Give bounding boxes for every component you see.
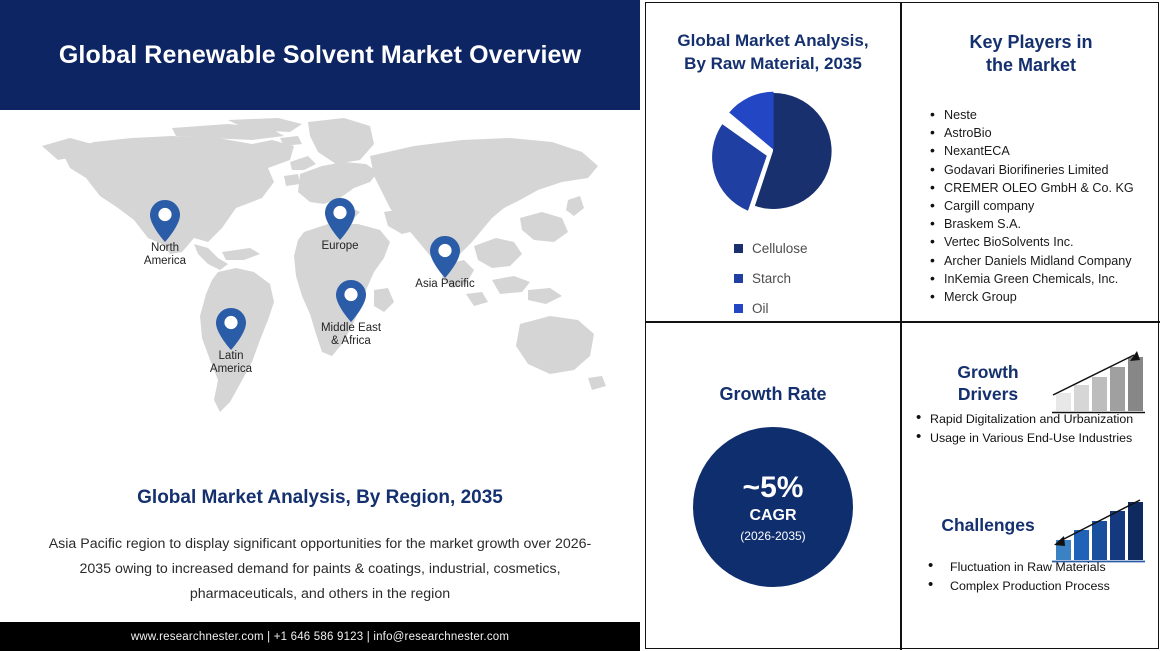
location-pin-icon [428, 234, 462, 280]
world-map-svg [22, 112, 622, 442]
list-item: Godavari Biorifineries Limited [930, 162, 1156, 179]
growth-drivers-title-line2: Drivers [928, 383, 1048, 405]
list-item: Complex Production Process [926, 577, 1154, 596]
legend-item-cellulose: Cellulose [734, 241, 900, 256]
drivers-challenges-panel: Growth Drivers Rapid Digitalization and … [902, 323, 1160, 650]
legend-swatch-oil [734, 304, 743, 313]
growth-drivers-list: Rapid Digitalization and Urbanization Us… [902, 411, 1160, 446]
list-item: Vertec BioSolvents Inc. [930, 234, 1156, 251]
challenges-list: Fluctuation in Raw Materials Complex Pro… [902, 558, 1160, 596]
growth-rate-title: Growth Rate [646, 383, 900, 406]
list-item: InKemia Green Chemicals, Inc. [930, 271, 1156, 288]
region-analysis-description: Asia Pacific region to display significa… [40, 532, 600, 607]
raw-material-pie-chart [646, 89, 900, 219]
growth-rate-period: (2026-2035) [740, 529, 805, 543]
world-map-section: NorthAmerica Europe Asia Pacific [0, 112, 640, 472]
map-pin-label: LatinAmerica [210, 350, 252, 375]
page-title: Global Renewable Solvent Market Overview [59, 41, 581, 70]
list-item: NexantECA [930, 143, 1156, 160]
right-panel-grid: Global Market Analysis, By Raw Material,… [645, 2, 1159, 649]
location-pin-icon [334, 278, 368, 324]
map-pin-middle-east-africa[interactable]: Middle East& Africa [334, 278, 368, 324]
left-panel: Global Renewable Solvent Market Overview [0, 0, 640, 651]
list-item: Braskem S.A. [930, 216, 1156, 233]
legend-swatch-cellulose [734, 244, 743, 253]
key-players-panel: Key Players in the Market Neste AstroBio… [902, 3, 1160, 321]
map-pin-label: Middle East& Africa [321, 322, 381, 347]
list-item: Rapid Digitalization and Urbanization [914, 411, 1154, 428]
legend-swatch-starch [734, 274, 743, 283]
map-pin-label: NorthAmerica [144, 242, 186, 267]
growth-drivers-bar-chart-icon [1050, 347, 1146, 417]
footer-bar: www.researchnester.com | +1 646 586 9123… [0, 622, 640, 651]
raw-material-title-line2: By Raw Material, 2035 [646, 52, 900, 75]
key-players-title-line2: the Market [902, 54, 1160, 77]
challenges-bar-chart-icon [1050, 494, 1146, 566]
legend-item-oil: Oil [734, 301, 900, 316]
map-pin-latin-america[interactable]: LatinAmerica [214, 306, 248, 352]
challenges-header: Challenges [902, 488, 1160, 558]
growth-rate-panel: Growth Rate ~5% CAGR (2026-2035) [646, 323, 900, 650]
raw-material-title-line1: Global Market Analysis, [646, 29, 900, 52]
legend-item-starch: Starch [734, 271, 900, 286]
map-pin-north-america[interactable]: NorthAmerica [148, 198, 182, 244]
pie-legend: Cellulose Starch Oil [646, 241, 900, 316]
location-pin-icon [214, 306, 248, 352]
growth-drivers-title-line1: Growth [928, 361, 1048, 383]
list-item: Archer Daniels Midland Company [930, 253, 1156, 270]
legend-label-cellulose: Cellulose [752, 241, 808, 256]
challenges-title: Challenges [928, 514, 1048, 536]
map-pin-label: Asia Pacific [415, 278, 474, 291]
map-pin-asia-pacific[interactable]: Asia Pacific [428, 234, 462, 280]
list-item: AstroBio [930, 125, 1156, 142]
region-analysis-title: Global Market Analysis, By Region, 2035 [0, 487, 640, 509]
map-pin-label: Europe [321, 240, 358, 253]
list-item: CREMER OLEO GmbH & Co. KG [930, 180, 1156, 197]
location-pin-icon [148, 198, 182, 244]
key-players-title-line1: Key Players in [902, 31, 1160, 54]
list-item: Fluctuation in Raw Materials [926, 558, 1154, 577]
header-bar: Global Renewable Solvent Market Overview [0, 0, 640, 110]
legend-label-oil: Oil [752, 301, 769, 316]
raw-material-panel: Global Market Analysis, By Raw Material,… [646, 3, 900, 321]
list-item: Cargill company [930, 198, 1156, 215]
growth-drivers-title: Growth Drivers [928, 361, 1048, 405]
footer-contact-text: www.researchnester.com | +1 646 586 9123… [131, 631, 509, 643]
pie-svg [711, 89, 835, 213]
growth-drivers-header: Growth Drivers [902, 341, 1160, 411]
infographic-root: Global Renewable Solvent Market Overview [0, 0, 1161, 651]
legend-label-starch: Starch [752, 271, 791, 286]
growth-rate-unit: CAGR [749, 507, 796, 525]
growth-rate-circle: ~5% CAGR (2026-2035) [693, 427, 853, 587]
list-item: Neste [930, 107, 1156, 124]
list-item: Usage in Various End-Use Industries [914, 430, 1154, 447]
list-item: Merck Group [930, 289, 1156, 306]
key-players-list: Neste AstroBio NexantECA Godavari Biorif… [902, 107, 1160, 306]
location-pin-icon [323, 196, 357, 242]
map-pin-europe[interactable]: Europe [323, 196, 357, 242]
growth-rate-value: ~5% [743, 472, 804, 504]
